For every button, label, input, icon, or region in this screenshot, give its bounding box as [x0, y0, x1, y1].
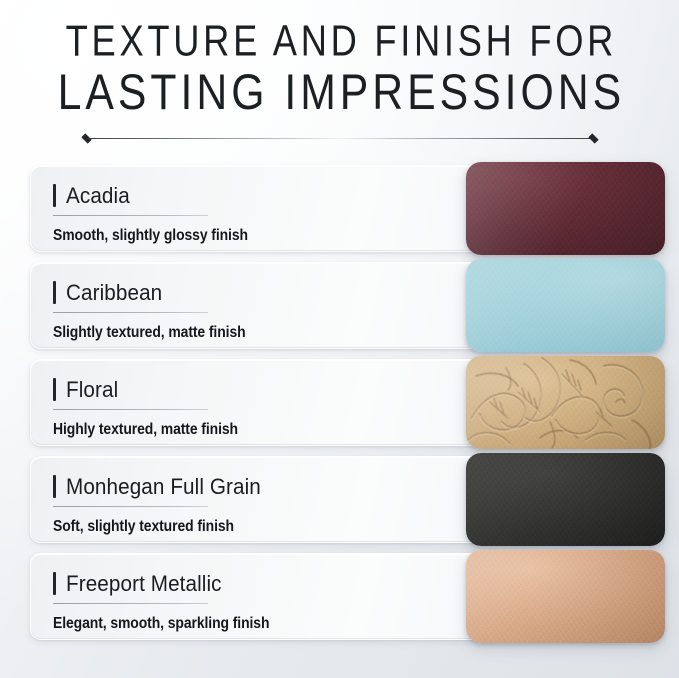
- swatch-name: Acadia: [66, 182, 430, 209]
- divider-ornament: [82, 133, 598, 145]
- list-item[interactable]: Acadia Smooth, slightly glossy finish: [30, 162, 665, 255]
- list-item[interactable]: Freeport Metallic Elegant, smooth, spark…: [30, 550, 665, 643]
- swatch-card-body: Acadia Smooth, slightly glossy finish: [53, 182, 453, 245]
- list-item[interactable]: Monhegan Full Grain Soft, slightly textu…: [30, 453, 665, 546]
- title-underline: [53, 215, 208, 216]
- poster-header: TEXTURE AND FINISH FOR LASTING IMPRESSIO…: [0, 0, 679, 145]
- accent-bar-icon: [53, 378, 56, 401]
- swatch-name: Floral: [66, 376, 430, 403]
- swatch-name-wrap: Monhegan Full Grain: [53, 473, 453, 501]
- diamond-right-icon: [588, 134, 598, 144]
- accent-bar-icon: [53, 572, 56, 595]
- swatch-name-wrap: Floral: [53, 376, 453, 404]
- swatch-floral[interactable]: [466, 356, 665, 449]
- swatch-description: Smooth, slightly glossy finish: [53, 226, 413, 245]
- accent-bar-icon: [53, 281, 56, 304]
- swatch-name-wrap: Acadia: [53, 182, 453, 210]
- list-item[interactable]: Floral Highly textured, matte finish: [30, 356, 665, 449]
- divider-line: [88, 138, 592, 139]
- swatch-acadia[interactable]: [466, 162, 665, 255]
- page-title-line-2: LASTING IMPRESSIONS: [17, 66, 662, 118]
- title-underline: [53, 409, 208, 410]
- swatch-name: Freeport Metallic: [66, 570, 430, 597]
- swatch-name: Monhegan Full Grain: [66, 473, 430, 500]
- swatch-card-body: Floral Highly textured, matte finish: [53, 376, 453, 439]
- title-underline: [53, 506, 208, 507]
- title-underline: [53, 603, 208, 604]
- swatch-card-body: Monhegan Full Grain Soft, slightly textu…: [53, 473, 453, 536]
- title-underline: [53, 312, 208, 313]
- swatch-monhegan-full-grain[interactable]: [466, 453, 665, 546]
- swatch-description: Slightly textured, matte finish: [53, 323, 413, 342]
- swatch-description: Elegant, smooth, sparkling finish: [53, 614, 413, 633]
- list-item[interactable]: Caribbean Slightly textured, matte finis…: [30, 259, 665, 352]
- swatch-description: Soft, slightly textured finish: [53, 517, 413, 536]
- swatch-card-body: Caribbean Slightly textured, matte finis…: [53, 279, 453, 342]
- swatch-list: Acadia Smooth, slightly glossy finish Ca…: [0, 162, 679, 643]
- swatch-sheen: [466, 162, 665, 255]
- swatch-sheen: [466, 259, 665, 352]
- swatch-name-wrap: Freeport Metallic: [53, 570, 453, 598]
- swatch-sheen: [466, 550, 665, 643]
- accent-bar-icon: [53, 475, 56, 498]
- swatch-freeport-metallic[interactable]: [466, 550, 665, 643]
- swatch-caribbean[interactable]: [466, 259, 665, 352]
- swatch-sheen: [466, 453, 665, 546]
- infographic-poster: TEXTURE AND FINISH FOR LASTING IMPRESSIO…: [0, 0, 679, 678]
- accent-bar-icon: [53, 184, 56, 207]
- page-title-line-1: TEXTURE AND FINISH FOR: [24, 20, 655, 65]
- swatch-name-wrap: Caribbean: [53, 279, 453, 307]
- swatch-description: Highly textured, matte finish: [53, 420, 413, 439]
- swatch-name: Caribbean: [66, 279, 430, 306]
- swatch-sheen: [466, 356, 665, 449]
- swatch-card-body: Freeport Metallic Elegant, smooth, spark…: [53, 570, 453, 633]
